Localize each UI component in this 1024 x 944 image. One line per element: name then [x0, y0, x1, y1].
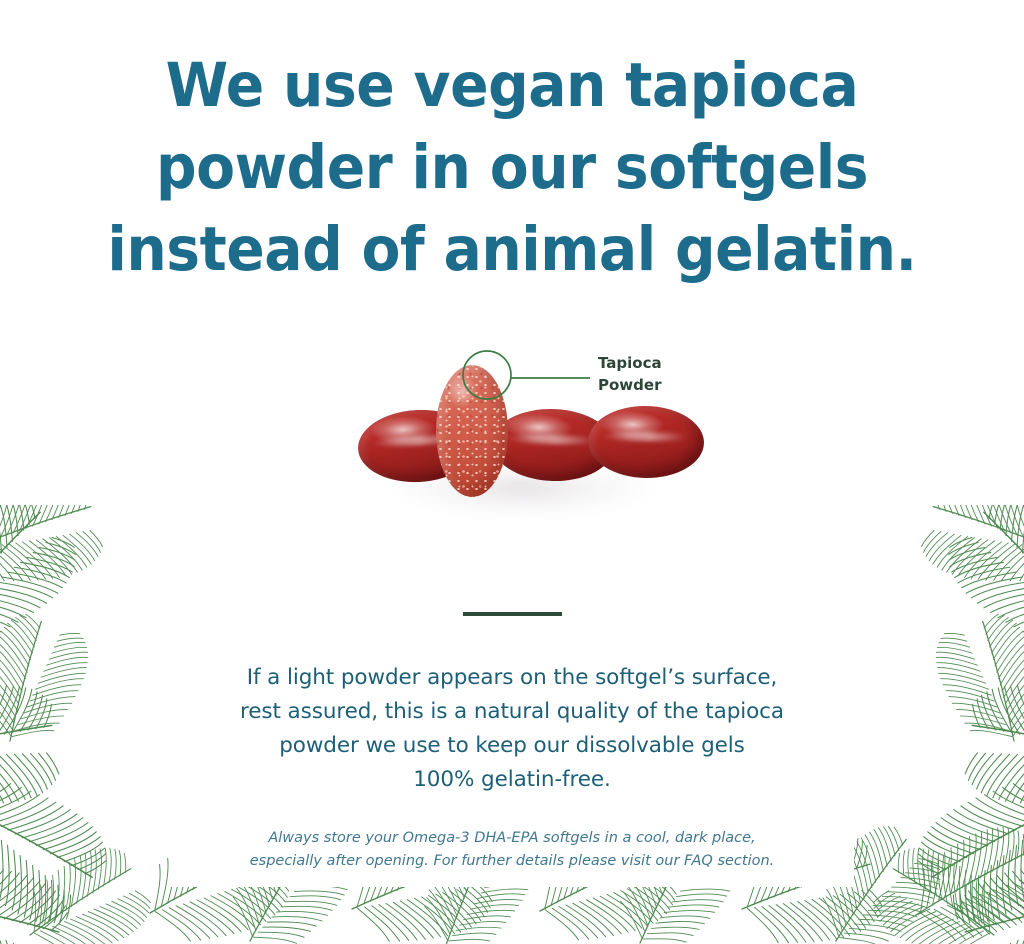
callout-label-line-1: Tapioca: [598, 352, 662, 374]
footnote-line-2: especially after opening. For further de…: [162, 850, 862, 873]
section-divider: [463, 612, 562, 616]
page-title: We use vegan tapioca powder in our softg…: [36, 41, 988, 291]
fern-cluster-right: [865, 505, 1024, 944]
product-figure: Tapioca Powder: [340, 330, 700, 580]
body-copy-line-4: 100% gelatin-free.: [162, 763, 862, 797]
body-copy-line-2: rest assured, this is a natural quality …: [162, 695, 862, 729]
storage-footnote: Always store your Omega-3 DHA-EPA softge…: [162, 827, 862, 873]
footnote-line-1: Always store your Omega-3 DHA-EPA softge…: [162, 827, 862, 850]
body-copy-line-3: powder we use to keep our dissolvable ge…: [162, 729, 862, 763]
callout-label: Tapioca Powder: [598, 352, 662, 396]
body-copy-line-1: If a light powder appears on the softgel…: [162, 661, 862, 695]
callout-label-line-2: Powder: [598, 374, 662, 396]
callout-circle-icon: [463, 351, 511, 399]
headline-line-1: We use vegan tapioca: [36, 45, 988, 127]
headline-line-3: instead of animal gelatin.: [36, 209, 988, 291]
headline-line-2: powder in our softgels: [36, 127, 988, 209]
fern-cluster-left: [0, 505, 159, 944]
body-copy: If a light powder appears on the softgel…: [162, 661, 862, 797]
